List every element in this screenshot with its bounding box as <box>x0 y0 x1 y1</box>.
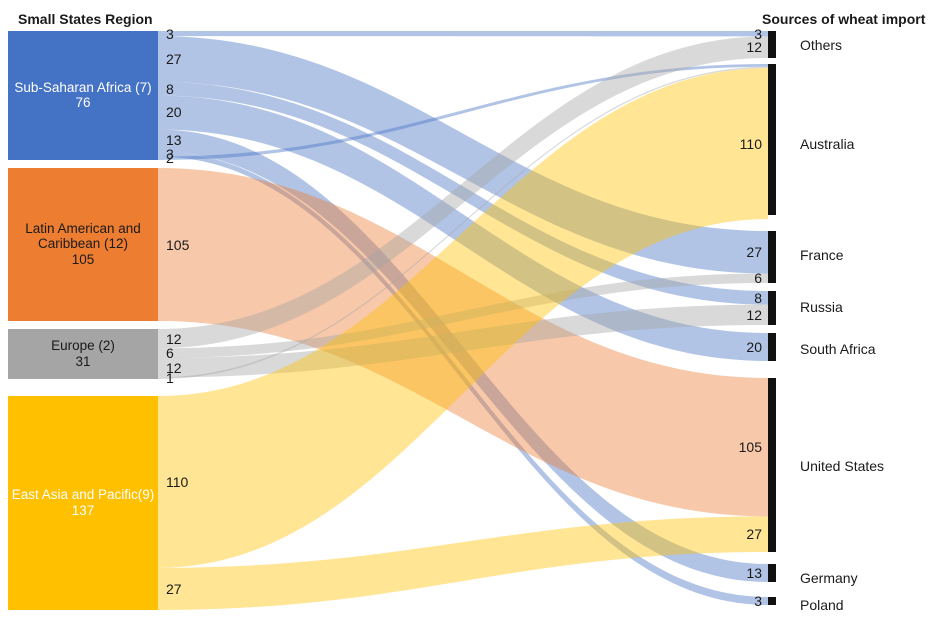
flow-value-target-eap-usa: 27 <box>746 526 762 542</box>
flow-value-target-eur-others: 12 <box>746 39 762 55</box>
sankey-canvas <box>0 0 940 618</box>
flow-value-target-lac-usa: 105 <box>739 439 762 455</box>
flow-value-target-ssa-fra: 27 <box>746 244 762 260</box>
target-node-zaf[interactable] <box>768 333 776 361</box>
flow-value-target-ssa-deu: 13 <box>746 565 762 581</box>
target-node-fra[interactable] <box>768 231 776 283</box>
right-column-header: Sources of wheat import <box>762 11 925 27</box>
sankey-link-ssa-to-others[interactable] <box>158 31 768 36</box>
flow-value-target-eur-rus: 12 <box>746 307 762 323</box>
sankey-diagram: Small States Region Sources of wheat imp… <box>0 0 940 618</box>
flow-value-source-ssa-aus: 2 <box>166 150 174 166</box>
target-node-label-deu: Germany <box>800 570 858 586</box>
flow-value-source-ssa-others: 3 <box>166 26 174 42</box>
target-node-label-rus: Russia <box>800 299 843 315</box>
target-node-aus[interactable] <box>768 64 776 215</box>
flow-value-source-ssa-fra: 27 <box>166 51 182 67</box>
source-node-eap[interactable] <box>8 396 158 610</box>
flow-value-source-lac-usa: 105 <box>166 237 189 253</box>
flow-value-source-eur-aus: 1 <box>166 370 174 386</box>
flow-value-target-ssa-rus: 8 <box>754 290 762 306</box>
sankey-source-nodes-group <box>8 31 158 610</box>
flow-value-target-ssa-pol: 3 <box>754 593 762 609</box>
left-column-header: Small States Region <box>18 11 153 27</box>
target-node-usa[interactable] <box>768 378 776 552</box>
flow-value-source-ssa-rus: 8 <box>166 81 174 97</box>
flow-value-target-eap-aus: 110 <box>740 136 762 152</box>
target-node-rus[interactable] <box>768 291 776 325</box>
target-node-label-fra: France <box>800 247 844 263</box>
flow-value-target-eur-fra: 6 <box>754 270 762 286</box>
source-node-lac[interactable] <box>8 168 158 321</box>
flow-value-source-eap-aus: 110 <box>166 474 188 490</box>
sankey-links-group <box>158 31 768 610</box>
sankey-target-nodes-group <box>768 31 776 605</box>
target-node-label-pol: Poland <box>800 597 844 613</box>
target-node-pol[interactable] <box>768 597 776 605</box>
source-node-ssa[interactable] <box>8 31 158 160</box>
target-node-label-usa: United States <box>800 458 884 474</box>
flow-value-target-ssa-zaf: 20 <box>746 339 762 355</box>
target-node-label-zaf: South Africa <box>800 341 876 357</box>
target-node-deu[interactable] <box>768 564 776 582</box>
target-node-label-aus: Australia <box>800 136 854 152</box>
source-node-eur[interactable] <box>8 329 158 379</box>
flow-value-source-eap-usa: 27 <box>166 581 182 597</box>
flow-value-source-ssa-zaf: 20 <box>166 104 182 120</box>
target-node-others[interactable] <box>768 31 776 58</box>
target-node-label-others: Others <box>800 37 842 53</box>
